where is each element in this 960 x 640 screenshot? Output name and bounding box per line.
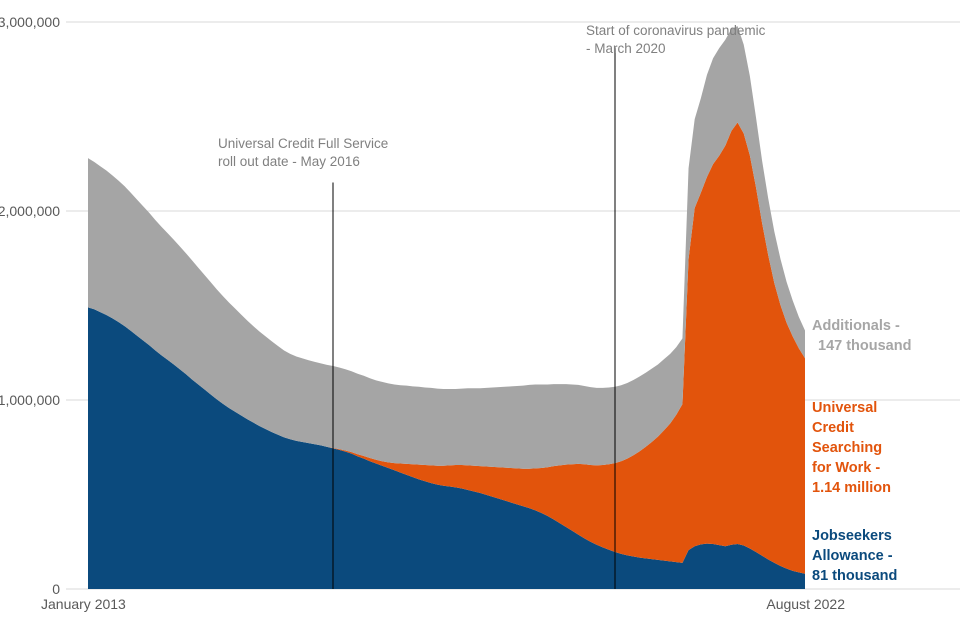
additionals-label: Additionals - [812, 318, 900, 334]
y-axis-labels: 3,000,0002,000,0001,000,0000 [0, 14, 60, 597]
y-axis-tick-label: 0 [52, 581, 60, 597]
annotation-text-universal-credit-rollout: roll out date - May 2016 [218, 154, 360, 169]
y-axis-tick-label: 3,000,000 [0, 14, 60, 30]
annotation-text-coronavirus-start: Start of coronavirus pandemic [586, 23, 766, 38]
universal-credit-label: 1.14 million [812, 480, 891, 496]
universal-credit-label: Searching [812, 440, 882, 456]
annotations-group: Universal Credit Full Serviceroll out da… [218, 23, 766, 169]
annotation-text-universal-credit-rollout: Universal Credit Full Service [218, 136, 388, 151]
universal-credit-label: Credit [812, 420, 854, 436]
jobseekers-allowance-label: Jobseekers [812, 528, 892, 544]
chart-canvas: 3,000,0002,000,0001,000,0000 January 201… [0, 0, 960, 640]
x-axis-end-label: August 2022 [766, 596, 845, 612]
jobseekers-allowance-label: 81 thousand [812, 568, 897, 584]
jobseekers-allowance-label: Allowance - [812, 548, 893, 564]
stacked-area-chart: 3,000,0002,000,0001,000,0000 January 201… [0, 0, 960, 640]
annotation-text-coronavirus-start: - March 2020 [586, 41, 666, 56]
y-axis-tick-label: 1,000,000 [0, 392, 60, 408]
universal-credit-label: for Work - [812, 460, 880, 476]
area-series-group [88, 26, 805, 589]
x-axis-labels: January 2013August 2022 [41, 596, 845, 612]
series-labels-group: Additionals -147 thousandUniversalCredit… [812, 318, 911, 584]
additionals-label: 147 thousand [818, 338, 911, 354]
x-axis-start-label: January 2013 [41, 596, 126, 612]
universal-credit-label: Universal [812, 400, 877, 416]
y-axis-tick-label: 2,000,000 [0, 203, 60, 219]
